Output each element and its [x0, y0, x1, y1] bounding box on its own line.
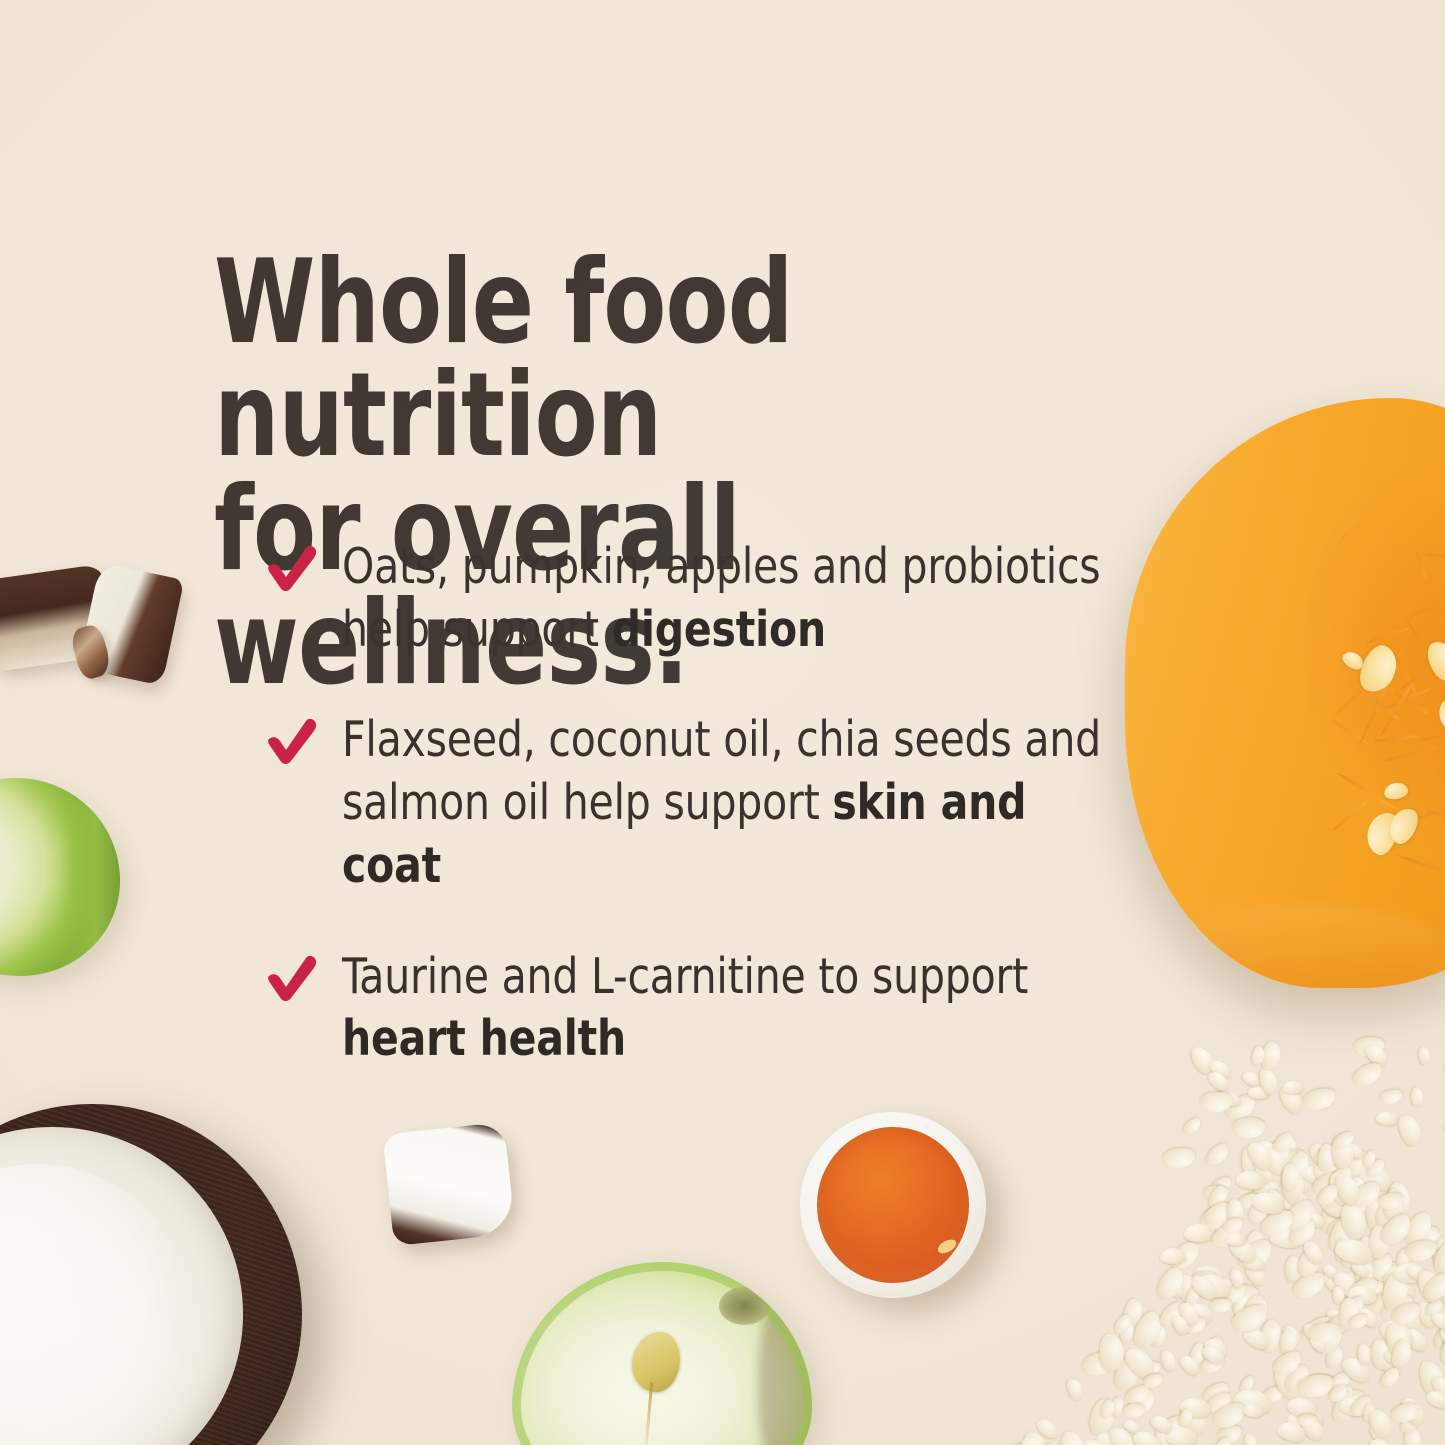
- oat-flake: [1366, 1195, 1391, 1233]
- oat-flake: [1349, 1240, 1373, 1277]
- oat-flake: [1375, 1314, 1418, 1355]
- oat-flake: [1332, 1151, 1352, 1175]
- pumpkin-fiber: [1396, 853, 1445, 888]
- oat-flake: [1286, 1198, 1319, 1237]
- oat-flake: [1339, 1241, 1363, 1270]
- oat-flake: [1165, 1426, 1198, 1445]
- oat-flake: [1324, 1214, 1359, 1256]
- oat-flake: [1347, 1284, 1378, 1306]
- oat-flake: [1351, 1176, 1368, 1198]
- oat-flake: [1318, 1264, 1360, 1303]
- oat-flake: [1304, 1375, 1337, 1396]
- oat-flake: [1298, 1413, 1328, 1445]
- oat-flake-scattered: [1331, 1135, 1354, 1170]
- oat-flake: [1130, 1426, 1165, 1445]
- oat-flake: [1319, 1158, 1353, 1199]
- oat-flake-scattered: [1219, 1091, 1243, 1108]
- oat-flake: [1404, 1238, 1439, 1264]
- oat-flake: [1381, 1270, 1419, 1305]
- oat-flake: [1200, 1280, 1221, 1297]
- benefit-item-heart-health: Taurine and L-carnitine to support heart…: [266, 946, 1196, 1071]
- oat-flake: [1142, 1372, 1165, 1390]
- oat-flake: [1121, 1418, 1142, 1437]
- oat-flake: [1279, 1441, 1309, 1445]
- oat-flake: [1317, 1142, 1337, 1172]
- oat-flake: [1226, 1232, 1247, 1246]
- oat-flake: [1369, 1292, 1404, 1316]
- oat-flake: [1432, 1245, 1445, 1263]
- oat-flake: [1324, 1369, 1353, 1399]
- oat-flake: [1376, 1290, 1418, 1326]
- oat-flake: [1423, 1296, 1445, 1320]
- coconut-flesh: [0, 1127, 243, 1445]
- oat-flake-scattered: [1259, 1040, 1282, 1072]
- oat-flake: [1287, 1191, 1312, 1211]
- oat-flake: [1260, 1383, 1287, 1405]
- oat-flake: [1245, 1195, 1274, 1227]
- oat-flake: [1283, 1148, 1313, 1184]
- oat-flake-scattered: [1331, 1129, 1357, 1153]
- oat-flake: [1209, 1398, 1249, 1432]
- benefit-text-bold: heart health: [342, 1010, 626, 1067]
- pumpkin-seed: [1384, 803, 1423, 848]
- oat-flake: [1429, 1309, 1445, 1334]
- oat-flake: [1020, 1429, 1051, 1445]
- oat-flake: [1394, 1247, 1413, 1269]
- oat-flake: [1441, 1326, 1445, 1356]
- oat-flake-scattered: [1276, 1083, 1304, 1115]
- oat-flake: [1394, 1261, 1428, 1284]
- oat-flake: [1004, 1440, 1033, 1445]
- coconut-half-image: [0, 1104, 302, 1445]
- oat-flake: [1323, 1310, 1354, 1339]
- oat-flake: [1241, 1253, 1266, 1273]
- pumpkin-fiber: [1426, 808, 1445, 835]
- oat-flake: [1280, 1165, 1305, 1203]
- oat-flake: [1329, 1389, 1361, 1426]
- salmon-oil-bowl-image: [800, 1112, 986, 1298]
- benefits-list: Oats, pumpkin, apples and probiotics hel…: [266, 536, 1196, 1071]
- oat-flake: [1325, 1163, 1356, 1194]
- oat-flake: [1317, 1194, 1352, 1236]
- oat-flake: [1154, 1426, 1174, 1445]
- oat-flake: [1372, 1197, 1400, 1230]
- oat-flake: [1282, 1170, 1307, 1195]
- oat-flake: [1334, 1383, 1357, 1406]
- pumpkin-fiber: [1408, 580, 1445, 619]
- oat-flake: [1379, 1217, 1410, 1244]
- oat-flake: [1205, 1183, 1231, 1212]
- oat-flake: [1309, 1167, 1351, 1202]
- oat-flake: [1367, 1421, 1393, 1445]
- oat-flake: [1200, 1342, 1228, 1368]
- oat-flake: [1347, 1178, 1385, 1212]
- oat-flake: [1237, 1374, 1257, 1395]
- oat-flake: [1199, 1333, 1227, 1364]
- salmon-oil: [817, 1127, 970, 1283]
- oat-flake: [1080, 1348, 1120, 1379]
- oat-flake: [1279, 1328, 1297, 1355]
- oat-flake: [1439, 1327, 1445, 1358]
- benefit-text-bold: digestion: [612, 601, 826, 658]
- oat-flake: [1332, 1188, 1352, 1212]
- oat-flake: [1240, 1144, 1264, 1180]
- oat-flake: [1017, 1433, 1053, 1445]
- oat-flake: [1317, 1191, 1347, 1220]
- oat-flake: [1284, 1256, 1302, 1284]
- oat-flake: [1235, 1235, 1278, 1275]
- oat-flake: [1369, 1424, 1390, 1441]
- oat-flake: [1194, 1271, 1234, 1302]
- oat-flake: [1271, 1146, 1309, 1176]
- oat-flake-scattered: [1354, 1036, 1386, 1057]
- oat-flake: [1241, 1324, 1273, 1353]
- oat-flake: [1342, 1148, 1375, 1180]
- oat-flake: [1142, 1361, 1162, 1376]
- oat-flake-scattered: [1349, 1059, 1386, 1090]
- oat-flake: [1212, 1435, 1234, 1445]
- oat-flake: [1424, 1388, 1445, 1412]
- pumpkin-fiber: [1399, 644, 1445, 691]
- oat-flake: [1338, 1141, 1361, 1161]
- oat-flake: [1335, 1239, 1351, 1263]
- oat-flake-scattered: [1162, 1147, 1196, 1170]
- oat-flake: [1360, 1235, 1374, 1255]
- oat-flake: [1086, 1396, 1119, 1438]
- oat-flake: [1034, 1415, 1062, 1441]
- oat-flake: [1176, 1299, 1202, 1329]
- oat-flake: [1343, 1140, 1366, 1161]
- oat-flake: [1121, 1297, 1145, 1329]
- oat-flake: [1381, 1263, 1401, 1287]
- oat-flake: [1363, 1279, 1385, 1295]
- oat-flake: [1256, 1206, 1297, 1242]
- oat-flake: [1349, 1258, 1371, 1279]
- oat-flake: [1235, 1169, 1266, 1190]
- oat-flake-scattered: [1362, 1040, 1391, 1069]
- oat-flake: [1160, 1248, 1186, 1265]
- oat-flake: [1244, 1137, 1276, 1173]
- oat-flake: [1274, 1134, 1299, 1167]
- benefit-item-digestion: Oats, pumpkin, apples and probiotics hel…: [266, 536, 1196, 661]
- oat-flake: [1123, 1382, 1153, 1408]
- pumpkin-fiber: [1374, 699, 1400, 720]
- oat-flake: [1294, 1243, 1326, 1280]
- pumpkin-fiber: [1441, 613, 1445, 664]
- coconut-wedge-image: [382, 1122, 515, 1246]
- oat-flake: [1170, 1312, 1191, 1336]
- oat-flake: [1290, 1164, 1314, 1194]
- oat-flake: [1368, 1435, 1398, 1445]
- oat-flake: [1296, 1161, 1323, 1186]
- oat-flake: [1188, 1271, 1222, 1303]
- oat-flake: [1197, 1199, 1240, 1236]
- oat-flake: [1142, 1317, 1164, 1332]
- oat-flake: [1355, 1229, 1393, 1264]
- oat-flake: [1283, 1193, 1313, 1216]
- oat-flake: [1210, 1175, 1234, 1195]
- oat-flake: [1381, 1271, 1412, 1313]
- oat-flake: [1156, 1299, 1188, 1331]
- oat-flake: [1368, 1225, 1390, 1259]
- oat-flake: [1174, 1271, 1206, 1310]
- benefit-text-regular: Taurine and L-carnitine to support: [342, 948, 1028, 1005]
- oat-flake: [1304, 1375, 1322, 1396]
- oat-flake: [1300, 1418, 1323, 1434]
- oat-flake: [1301, 1321, 1321, 1343]
- oat-flake: [1178, 1395, 1212, 1420]
- oat-flake: [1121, 1342, 1160, 1383]
- oat-flake: [1346, 1312, 1371, 1333]
- oat-flake: [1275, 1419, 1308, 1445]
- oat-flake: [1177, 1352, 1203, 1379]
- oat-flake: [1339, 1352, 1375, 1386]
- oat-flake: [1357, 1345, 1375, 1366]
- oat-flake: [1216, 1424, 1245, 1445]
- oat-flake: [1257, 1318, 1284, 1355]
- oat-flake: [1285, 1394, 1320, 1421]
- oat-flake: [1187, 1341, 1208, 1368]
- rolled-oats-image: [1109, 1069, 1445, 1445]
- pumpkin-fiber: [1357, 662, 1400, 747]
- oat-flake: [1209, 1220, 1245, 1253]
- oat-flake: [1240, 1228, 1267, 1261]
- oat-flake: [1312, 1140, 1344, 1167]
- pumpkin-fiber: [1415, 793, 1445, 821]
- apple-half-image: [512, 1262, 812, 1445]
- oat-flake: [1248, 1158, 1289, 1201]
- oat-flake: [1429, 1373, 1445, 1401]
- oat-flake: [1227, 1235, 1261, 1267]
- pumpkin-fiber: [1330, 799, 1369, 833]
- oat-flake: [1203, 1185, 1229, 1202]
- benefit-text: Taurine and L-carnitine to support heart…: [342, 946, 1136, 1071]
- apple-slice-image: [0, 778, 120, 976]
- oat-flake: [1383, 1321, 1414, 1362]
- oat-flake: [1265, 1164, 1293, 1186]
- oat-flake-scattered: [1232, 1118, 1265, 1139]
- oat-flake: [1183, 1284, 1203, 1307]
- oat-flake: [1339, 1394, 1372, 1417]
- oat-flake-scattered: [1180, 1115, 1203, 1138]
- oat-flake: [1325, 1186, 1346, 1219]
- pumpkin-fiber: [1379, 685, 1412, 737]
- oat-flake: [1192, 1264, 1225, 1288]
- oat-flake: [1180, 1315, 1208, 1337]
- pumpkin-fiber: [1373, 735, 1417, 744]
- oat-flake: [1119, 1320, 1135, 1344]
- oat-flake: [1351, 1189, 1373, 1209]
- benefit-item-skin-and-coat: Flaxseed, coconut oil, chia seeds and sa…: [266, 709, 1196, 897]
- oat-flake: [1215, 1221, 1229, 1242]
- oat-flake: [1268, 1169, 1290, 1188]
- oat-flake: [1292, 1195, 1322, 1232]
- oat-flake: [1341, 1294, 1367, 1320]
- oat-flake: [1309, 1325, 1340, 1352]
- oat-flake: [1251, 1136, 1287, 1171]
- oat-flake: [1338, 1201, 1370, 1243]
- oat-flake: [1296, 1373, 1335, 1401]
- oat-flake: [1430, 1320, 1445, 1355]
- pumpkin-fiber: [1336, 771, 1398, 811]
- benefit-text: Flaxseed, coconut oil, chia seeds and sa…: [342, 709, 1136, 897]
- oat-flake: [1332, 1177, 1352, 1202]
- pumpkin-fiber: [1393, 691, 1430, 716]
- oat-flake: [1109, 1396, 1126, 1419]
- oat-flake: [1382, 1345, 1408, 1369]
- oat-flake: [1323, 1304, 1353, 1335]
- oat-flake: [1203, 1389, 1235, 1418]
- oat-flake: [1320, 1262, 1341, 1282]
- oat-flake: [1414, 1298, 1441, 1330]
- oat-flake: [1362, 1403, 1377, 1424]
- pumpkin-seed: [1340, 648, 1367, 673]
- oat-flake: [1331, 1170, 1364, 1209]
- oat-flake: [1279, 1196, 1319, 1236]
- oat-flake: [1202, 1335, 1230, 1360]
- oat-flake: [1360, 1149, 1377, 1170]
- oat-flake: [1227, 1199, 1245, 1226]
- oat-flake-scattered: [1378, 1088, 1403, 1106]
- oat-flake: [1373, 1347, 1407, 1380]
- oat-flake: [1355, 1305, 1381, 1331]
- oat-flake-scattered: [1375, 1111, 1398, 1127]
- oat-flake-scattered: [1206, 1087, 1234, 1115]
- oat-flake-scattered: [1418, 1046, 1431, 1065]
- oat-flake: [1227, 1300, 1271, 1337]
- oat-flake: [1427, 1236, 1445, 1262]
- oat-flake: [1268, 1224, 1305, 1250]
- product-benefits-banner: Whole food nutrition for overall wellnes…: [0, 0, 1445, 1445]
- coconut-chunk-image: [68, 623, 113, 682]
- oat-flake: [1339, 1181, 1381, 1221]
- oat-flake: [1065, 1376, 1085, 1401]
- oat-flake: [1181, 1299, 1215, 1327]
- oat-flake: [1202, 1198, 1236, 1228]
- oat-flake: [1242, 1402, 1264, 1418]
- oat-flake: [1289, 1268, 1330, 1304]
- oat-flake: [1024, 1440, 1064, 1445]
- oat-flake: [1159, 1349, 1177, 1373]
- oat-flake: [1364, 1156, 1389, 1180]
- oat-flake-scattered: [1240, 1069, 1262, 1089]
- oat-flake: [1215, 1275, 1243, 1309]
- oat-flake: [1192, 1272, 1218, 1288]
- oat-flake: [1307, 1333, 1329, 1355]
- oat-flake: [1377, 1192, 1405, 1212]
- oat-flake: [1177, 1399, 1210, 1438]
- oat-flake: [1321, 1177, 1354, 1214]
- oat-flake: [1257, 1142, 1292, 1180]
- pumpkin-fiber: [1435, 647, 1445, 683]
- check-icon: [266, 954, 320, 1002]
- oat-flake: [1297, 1414, 1317, 1427]
- oat-flake: [1271, 1361, 1305, 1402]
- pumpkin-fiber: [1365, 626, 1411, 645]
- oat-flake: [1298, 1312, 1339, 1347]
- pumpkin-fiber: [1332, 649, 1405, 718]
- oat-flake: [1417, 1225, 1439, 1241]
- oat-flake-scattered: [1271, 1130, 1298, 1157]
- pumpkin-fiber: [1392, 650, 1419, 694]
- oat-flake: [1197, 1277, 1210, 1297]
- oat-flake: [1365, 1433, 1400, 1445]
- oat-flake: [1330, 1267, 1362, 1300]
- coconut-chunk-image: [78, 562, 185, 686]
- oat-flake: [1388, 1337, 1414, 1370]
- oat-flake: [1109, 1350, 1147, 1394]
- oat-flake-scattered: [1395, 1111, 1425, 1148]
- oat-flake: [1332, 1286, 1346, 1306]
- oat-flake: [1228, 1267, 1245, 1289]
- oat-flake: [1153, 1263, 1189, 1303]
- oat-flake: [1438, 1325, 1445, 1347]
- oat-flake: [1404, 1261, 1429, 1283]
- oat-flake: [1232, 1302, 1252, 1326]
- oat-flake: [1311, 1157, 1351, 1197]
- apple-core-line: [644, 1382, 654, 1445]
- oat-flake: [1100, 1333, 1124, 1371]
- pumpkin-seed: [1437, 696, 1445, 735]
- oat-flake: [1282, 1163, 1299, 1191]
- pumpkin-fiber: [1435, 770, 1445, 804]
- pumpkin-fiber: [1383, 686, 1432, 711]
- oat-flake-scattered: [1205, 1069, 1232, 1095]
- oat-flake: [1371, 1339, 1393, 1371]
- oat-flake: [1253, 1136, 1296, 1177]
- oat-flake: [1415, 1267, 1445, 1306]
- oat-flake: [1419, 1268, 1445, 1304]
- oat-flake: [1243, 1260, 1269, 1288]
- oat-flake: [1398, 1394, 1429, 1429]
- oat-flake: [1365, 1251, 1397, 1282]
- benefit-text: Oats, pumpkin, apples and probiotics hel…: [342, 536, 1136, 661]
- oat-flake: [1357, 1269, 1376, 1291]
- coconut-chunk-image: [0, 564, 114, 672]
- oat-flake: [1165, 1238, 1204, 1275]
- oat-flake: [1244, 1188, 1282, 1215]
- oat-flake: [1382, 1188, 1406, 1222]
- oat-flake-scattered: [1207, 1057, 1234, 1082]
- oat-flake: [1113, 1312, 1135, 1336]
- oat-flake: [1347, 1393, 1375, 1421]
- oat-flake: [1416, 1224, 1445, 1261]
- oat-flake: [1251, 1156, 1279, 1187]
- oat-flake: [1197, 1350, 1227, 1377]
- oat-flake-scattered: [1411, 1087, 1424, 1106]
- oat-flake-scattered: [1441, 1118, 1445, 1139]
- oat-flake: [1366, 1405, 1396, 1440]
- oat-flake-scattered: [1257, 1066, 1281, 1096]
- oat-flake: [1178, 1306, 1201, 1331]
- oat-flake: [1285, 1214, 1321, 1250]
- oat-flake: [1348, 1275, 1381, 1302]
- apple-stem-well: [719, 1287, 770, 1325]
- oat-flake: [1177, 1407, 1195, 1429]
- pumpkin-fiber: [1331, 718, 1369, 745]
- oat-flake-scattered: [1222, 1091, 1260, 1125]
- oat-flake: [1388, 1182, 1411, 1217]
- apple-rim: [512, 1262, 812, 1445]
- oat-flake: [1431, 1236, 1445, 1268]
- oat-flake: [1320, 1149, 1347, 1176]
- oat-flake: [1108, 1437, 1134, 1445]
- oat-flake: [1356, 1234, 1389, 1258]
- oat-flake: [1398, 1407, 1422, 1436]
- oat-flake: [1328, 1385, 1368, 1416]
- oat-flake-scattered: [1283, 1081, 1304, 1095]
- oat-flake-scattered: [1251, 1045, 1266, 1066]
